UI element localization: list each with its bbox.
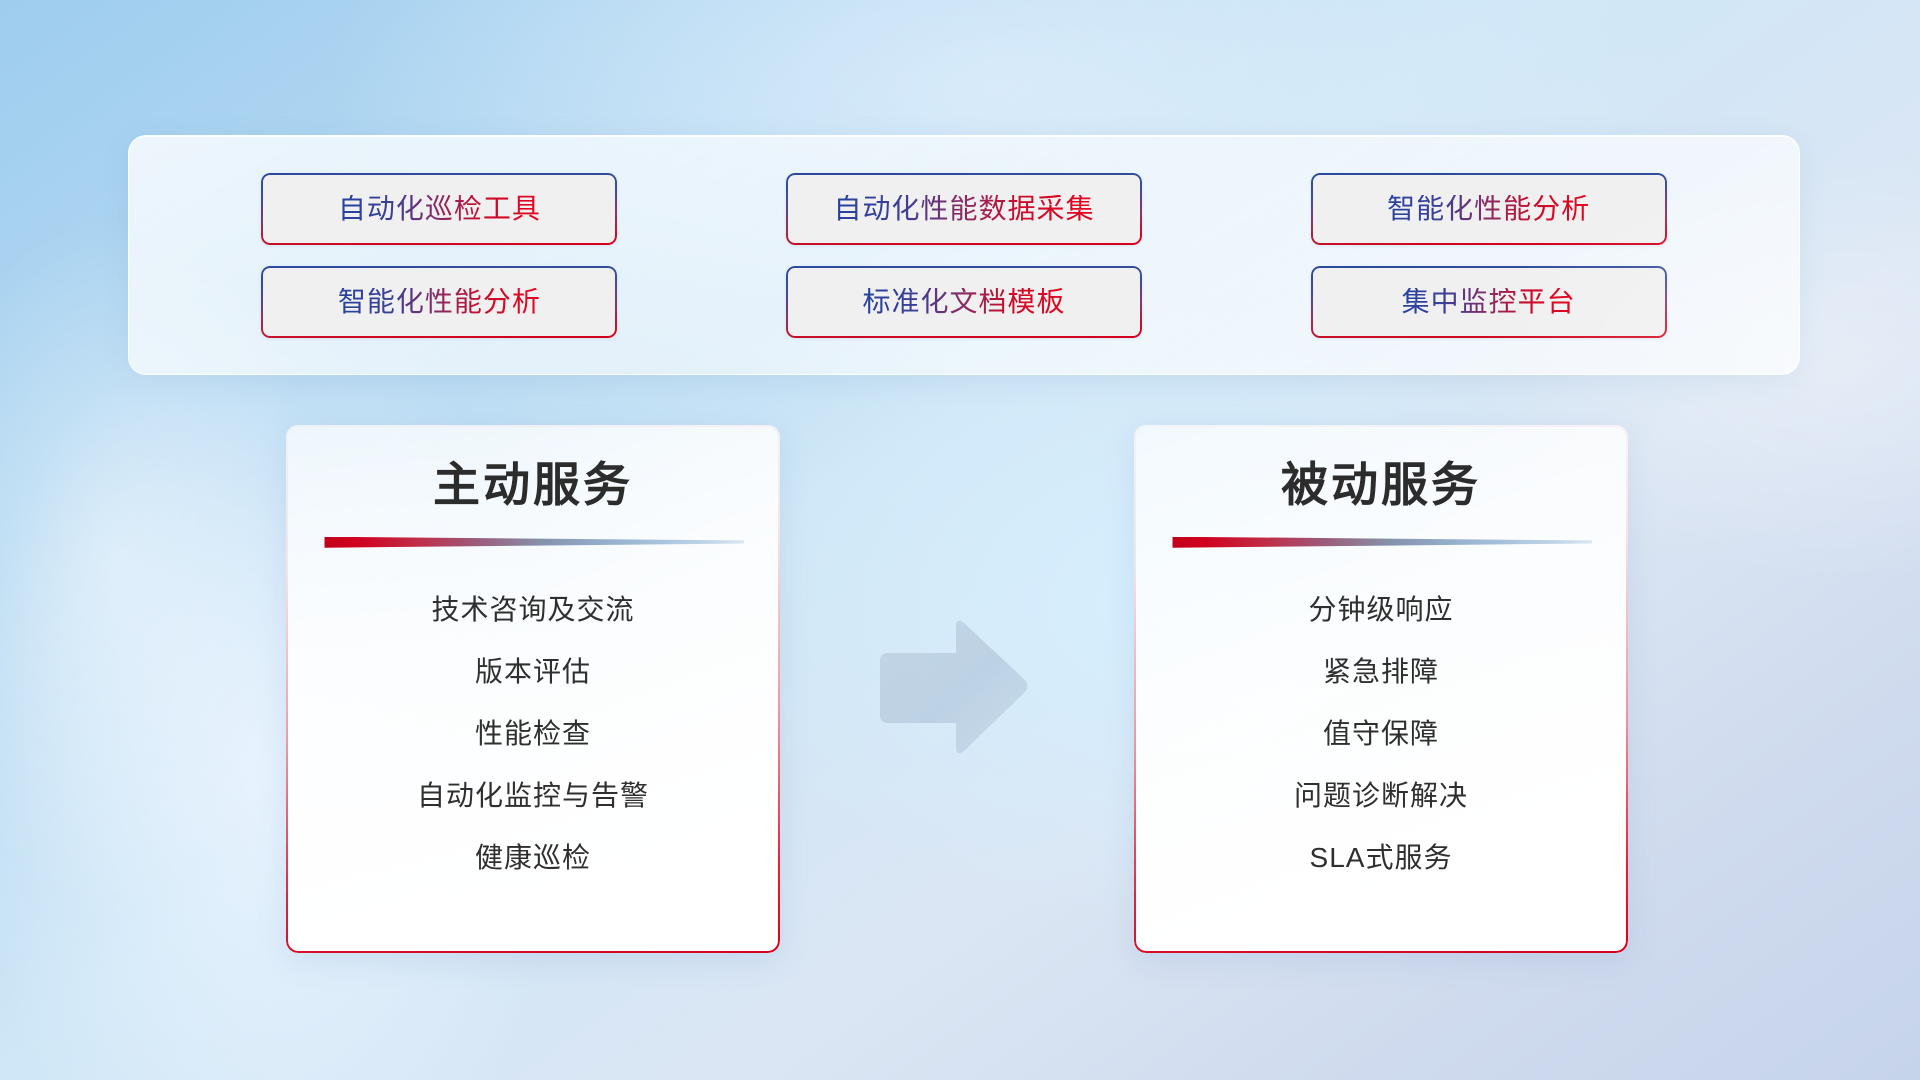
- gradient-rule: [322, 537, 744, 548]
- service-item-list: 分钟级响应 紧急排障 值守保障 问题诊断解决 SLA式服务: [1164, 579, 1598, 889]
- card-title: 被动服务: [1164, 459, 1598, 511]
- capability-pill[interactable]: 标准化文档模板: [786, 266, 1142, 338]
- capability-pill[interactable]: 集中监控平台: [1311, 266, 1667, 338]
- capability-pill-label: 智能化性能分析: [338, 288, 541, 316]
- capability-pill[interactable]: 自动化性能数据采集: [786, 173, 1142, 245]
- list-item: 值守保障: [1164, 703, 1598, 765]
- capability-pill[interactable]: 智能化性能分析: [1311, 173, 1667, 245]
- list-item: 技术咨询及交流: [316, 579, 750, 641]
- card-title: 主动服务: [316, 459, 750, 511]
- list-item: SLA式服务: [1164, 827, 1598, 889]
- arrow-right-icon: [872, 613, 1032, 763]
- capability-pill-label: 标准化文档模板: [862, 288, 1065, 316]
- list-item: 分钟级响应: [1164, 579, 1598, 641]
- list-item: 自动化监控与告警: [316, 765, 750, 827]
- list-item: 版本评估: [316, 641, 750, 703]
- service-card-passive: 被动服务 分钟级响应 紧急排障 值守保障 问题诊断解决 SLA式服务: [1134, 425, 1628, 953]
- card-divider: [1170, 537, 1592, 549]
- capabilities-panel: 自动化巡检工具 自动化性能数据采集 智能化性能分析 智能化性能分析 标准化文档模…: [128, 135, 1800, 375]
- service-item-list: 技术咨询及交流 版本评估 性能检查 自动化监控与告警 健康巡检: [316, 579, 750, 889]
- capability-pill-label: 自动化巡检工具: [338, 195, 541, 223]
- service-card-active: 主动服务 技术咨询及交流 版本评估 性能检查 自动化监控与告警 健康巡检: [286, 425, 780, 953]
- gradient-rule: [1170, 537, 1592, 548]
- capability-pill[interactable]: 智能化性能分析: [261, 266, 617, 338]
- capability-pill-label: 智能化性能分析: [1387, 195, 1590, 223]
- capability-pill[interactable]: 自动化巡检工具: [261, 173, 617, 245]
- list-item: 紧急排障: [1164, 641, 1598, 703]
- list-item: 问题诊断解决: [1164, 765, 1598, 827]
- capability-pill-label: 自动化性能数据采集: [833, 195, 1094, 223]
- list-item: 健康巡检: [316, 827, 750, 889]
- card-divider: [322, 537, 744, 549]
- capability-pill-label: 集中监控平台: [1402, 288, 1576, 316]
- list-item: 性能检查: [316, 703, 750, 765]
- diagram-canvas: 自动化巡检工具 自动化性能数据采集 智能化性能分析 智能化性能分析 标准化文档模…: [0, 0, 1920, 1080]
